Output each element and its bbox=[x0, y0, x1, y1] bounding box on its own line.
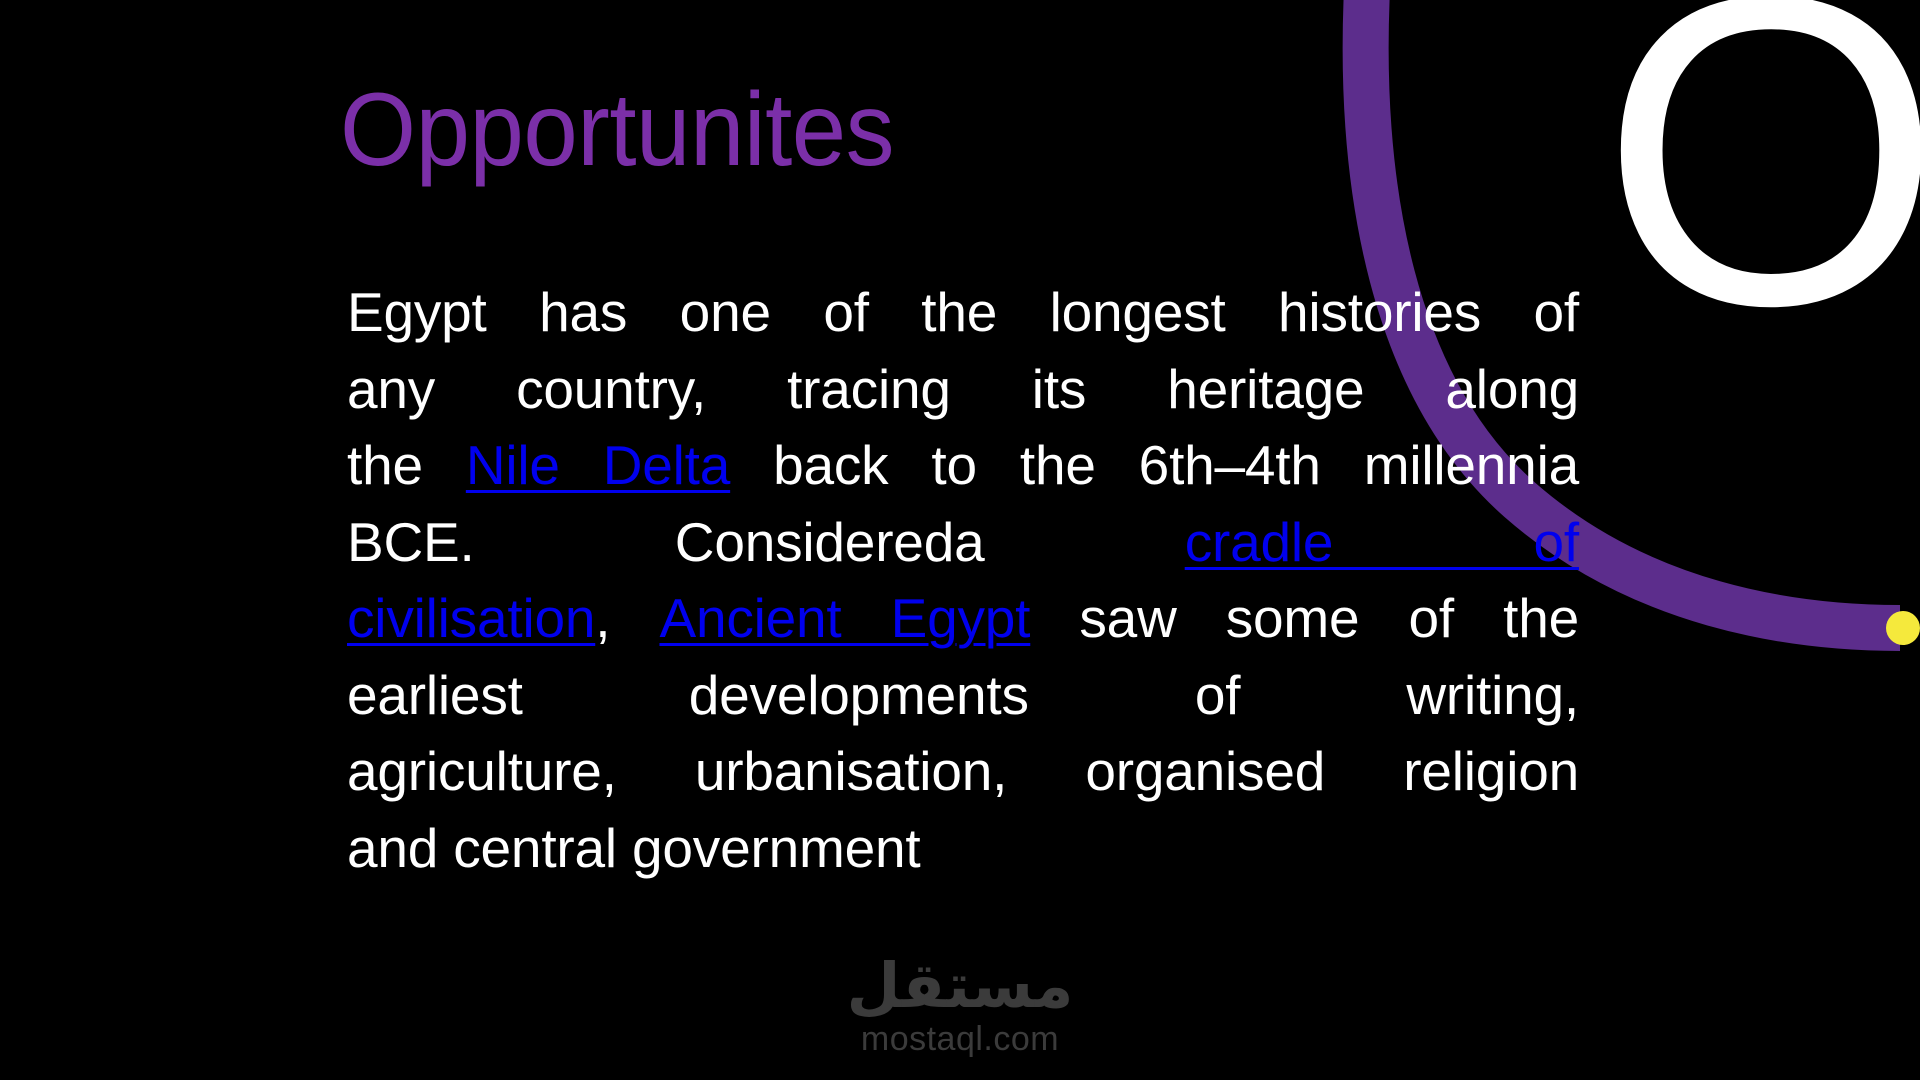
body-line-4-pre: BCE. Considereda bbox=[347, 511, 1185, 573]
link-cradle-of[interactable]: cradle of bbox=[1185, 511, 1579, 573]
body-line-8: and central government bbox=[347, 810, 1579, 887]
body-line-3-post: back to the 6th–4th millennia bbox=[730, 434, 1579, 496]
link-ancient-egypt[interactable]: Ancient Egypt bbox=[659, 587, 1030, 649]
watermark: مستقل mostaql.com bbox=[0, 954, 1920, 1058]
body-line-6: earliest developments of writing, bbox=[347, 657, 1579, 734]
link-civilisation[interactable]: civilisation bbox=[347, 587, 595, 649]
body-line-2: any country, tracing its heritage along bbox=[347, 351, 1579, 428]
body-paragraph: Egypt has one of the longest histories o… bbox=[347, 274, 1579, 886]
brand-letter-o: O bbox=[1600, 0, 1920, 352]
body-line-5: civilisation, Ancient Egypt saw some of … bbox=[347, 580, 1579, 657]
watermark-arabic-logo: مستقل bbox=[0, 954, 1920, 1018]
body-line-7: agriculture, urbanisation, organised rel… bbox=[347, 733, 1579, 810]
watermark-domain: mostaql.com bbox=[0, 1020, 1920, 1058]
body-line-1: Egypt has one of the longest histories o… bbox=[347, 274, 1579, 351]
slide-canvas: O Opportunites Egypt has one of the long… bbox=[0, 0, 1920, 1080]
link-nile-delta[interactable]: Nile Delta bbox=[466, 434, 730, 496]
page-title: Opportunites bbox=[340, 74, 894, 186]
body-line-5-sep: , bbox=[595, 587, 659, 649]
body-line-5-post: saw some of the bbox=[1030, 587, 1579, 649]
body-line-4: BCE. Considereda cradle of bbox=[347, 504, 1579, 581]
body-line-3-pre: the bbox=[347, 434, 466, 496]
body-line-3: the Nile Delta back to the 6th–4th mille… bbox=[347, 427, 1579, 504]
